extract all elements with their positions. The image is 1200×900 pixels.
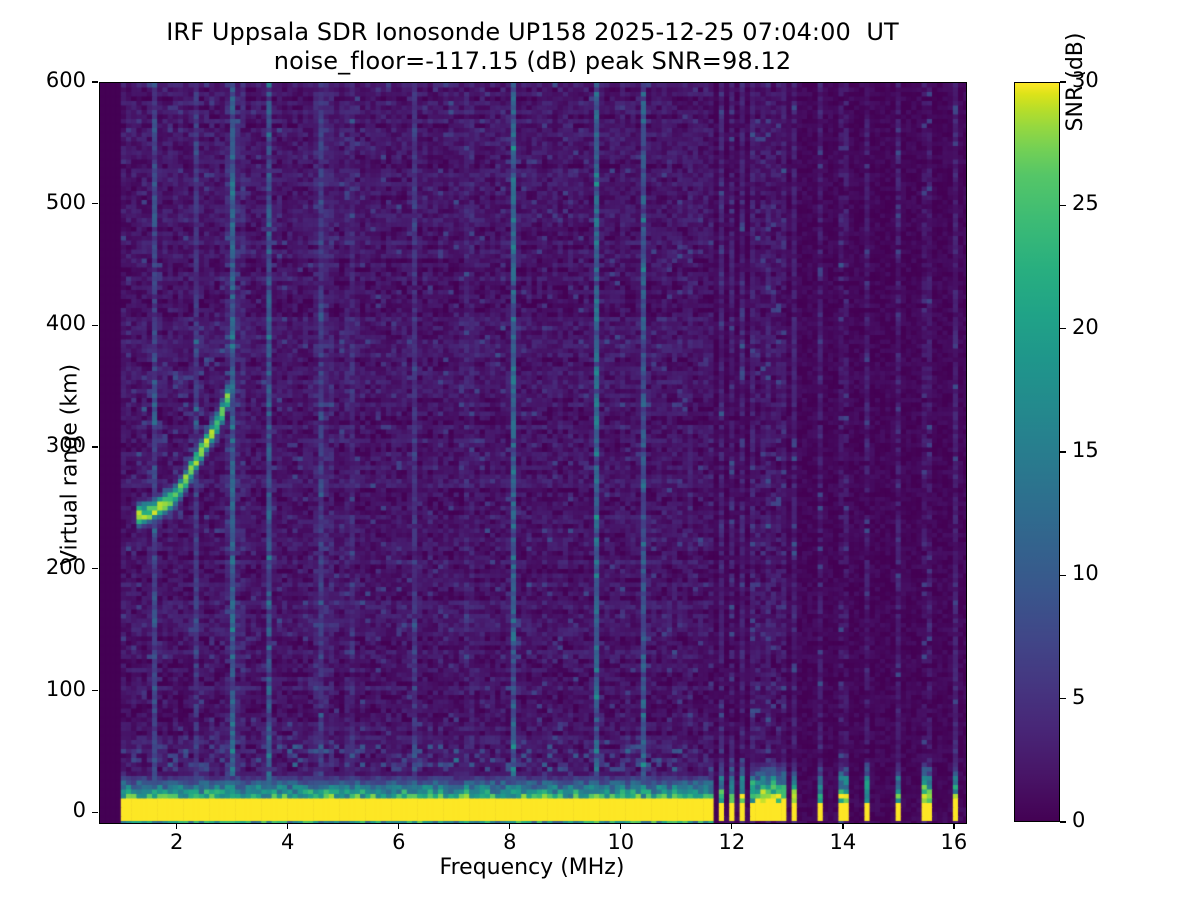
colorbar-tick-mark <box>1060 451 1066 452</box>
ionogram-plot-area <box>99 82 967 824</box>
figure-title: IRF Uppsala SDR Ionosonde UP158 2025-12-… <box>0 18 1065 77</box>
y-axis-label: Virtual range (km) <box>58 95 83 835</box>
x-tick-mark <box>842 823 843 829</box>
y-tick-mark <box>92 568 98 569</box>
x-tick-mark <box>953 823 954 829</box>
x-axis-label: Frequency (MHz) <box>99 855 965 880</box>
colorbar-tick-mark <box>1060 575 1066 576</box>
x-tick-label: 8 <box>480 830 540 854</box>
ionogram-figure: IRF Uppsala SDR Ionosonde UP158 2025-12-… <box>0 0 1200 900</box>
colorbar-tick-mark <box>1060 821 1066 822</box>
x-tick-mark <box>176 823 177 829</box>
colorbar-tick-label: 0 <box>1072 808 1085 832</box>
y-tick-mark <box>92 446 98 447</box>
x-tick-label: 2 <box>147 830 207 854</box>
title-line-1: IRF Uppsala SDR Ionosonde UP158 2025-12-… <box>0 18 1065 47</box>
colorbar-tick-label: 5 <box>1072 685 1085 709</box>
title-line-2: noise_floor=-117.15 (dB) peak SNR=98.12 <box>0 47 1065 76</box>
y-tick-mark <box>92 81 98 82</box>
ionogram-heatmap <box>100 83 966 823</box>
colorbar-tick-label: 30 <box>1072 68 1099 92</box>
x-tick-label: 16 <box>924 830 984 854</box>
y-tick-mark <box>92 325 98 326</box>
x-tick-mark <box>620 823 621 829</box>
colorbar-tick-mark <box>1060 328 1066 329</box>
x-tick-mark <box>287 823 288 829</box>
x-tick-label: 14 <box>813 830 873 854</box>
y-tick-mark <box>92 812 98 813</box>
x-tick-label: 12 <box>702 830 762 854</box>
colorbar-tick-mark <box>1060 205 1066 206</box>
x-tick-label: 4 <box>258 830 318 854</box>
colorbar-tick-label: 25 <box>1072 191 1099 215</box>
colorbar-tick-label: 10 <box>1072 561 1099 585</box>
x-tick-mark <box>509 823 510 829</box>
colorbar-tick-label: 15 <box>1072 438 1099 462</box>
colorbar: 051015202530 <box>1014 82 1060 822</box>
y-tick-mark <box>92 203 98 204</box>
x-tick-label: 10 <box>591 830 651 854</box>
x-tick-label: 6 <box>369 830 429 854</box>
colorbar-tick-mark <box>1060 81 1066 82</box>
colorbar-gradient <box>1014 82 1060 822</box>
y-tick-mark <box>92 690 98 691</box>
colorbar-tick-label: 20 <box>1072 315 1099 339</box>
colorbar-tick-mark <box>1060 698 1066 699</box>
x-tick-mark <box>398 823 399 829</box>
x-tick-mark <box>731 823 732 829</box>
y-tick-label: 600 <box>6 68 86 92</box>
